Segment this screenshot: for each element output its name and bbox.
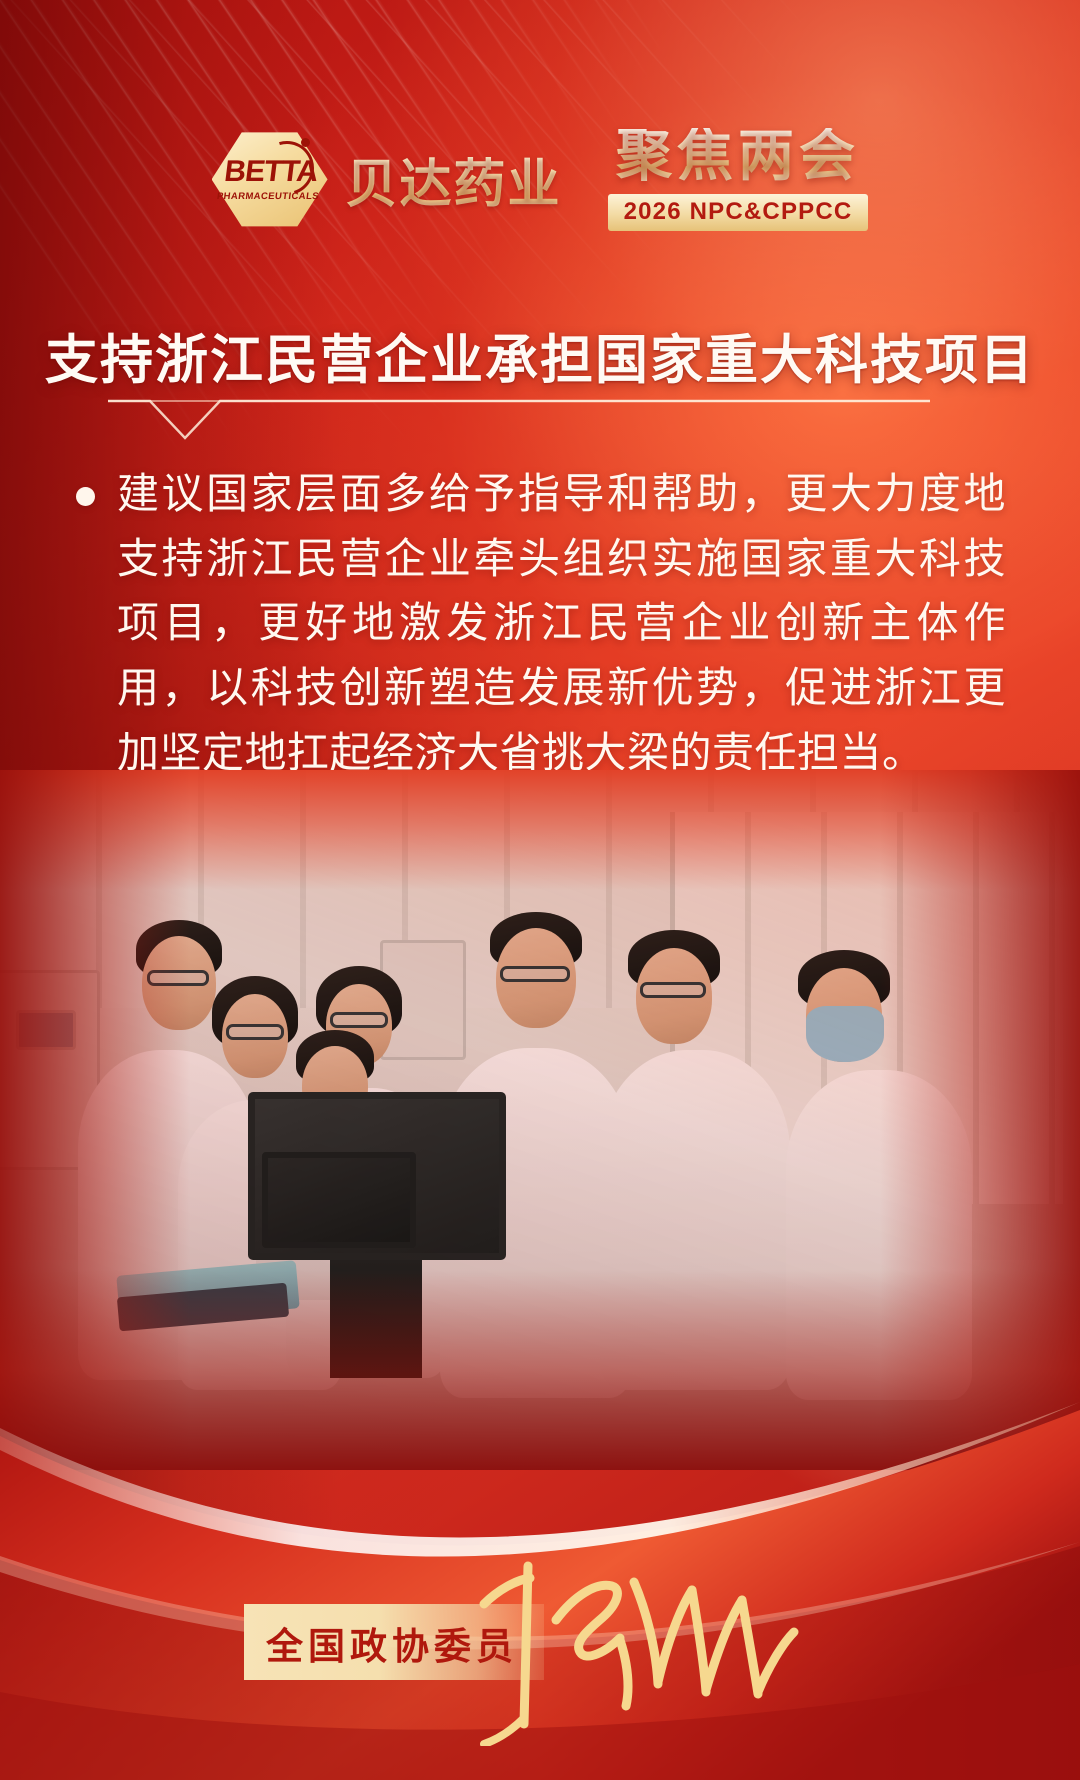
poster-header: BETTA PHARMACEUTICALS 贝达药业 聚焦两会 2026 NPC…	[0, 128, 1080, 231]
brand-lockup: BETTA PHARMACEUTICALS 贝达药业	[212, 129, 562, 229]
campaign-lockup: 聚焦两会 2026 NPC&CPPCC	[608, 128, 869, 231]
logo-dot-icon	[301, 138, 310, 147]
handwritten-signature-icon	[470, 1556, 800, 1746]
page-title: 支持浙江民营企业承担国家重大科技项目	[0, 318, 1080, 394]
title-divider-ornament	[0, 398, 1080, 444]
logo-text-group: BETTA PHARMACEUTICALS	[216, 157, 324, 202]
body-copy-block: 建议国家层面多给予指导和帮助，更大力度地支持浙江民营企业牵头组织实施国家重大科技…	[76, 463, 1006, 786]
poster-root: BETTA PHARMACEUTICALS 贝达药业 聚焦两会 2026 NPC…	[0, 0, 1080, 1780]
campaign-title: 聚焦两会	[608, 128, 869, 187]
campaign-badge: 2026 NPC&CPPCC	[608, 194, 869, 231]
betta-hexagon-logo-icon: BETTA PHARMACEUTICALS	[212, 129, 328, 229]
company-name: 贝达药业	[346, 142, 562, 217]
logo-subtitle: PHARMACEUTICALS	[216, 192, 319, 202]
logo-wordmark: BETTA	[218, 157, 324, 187]
bullet-point-icon	[76, 487, 95, 506]
signature-block: 全国政协委员	[0, 1586, 1080, 1706]
body-text: 建议国家层面多给予指导和帮助，更大力度地支持浙江民营企业牵头组织实施国家重大科技…	[117, 463, 1006, 786]
